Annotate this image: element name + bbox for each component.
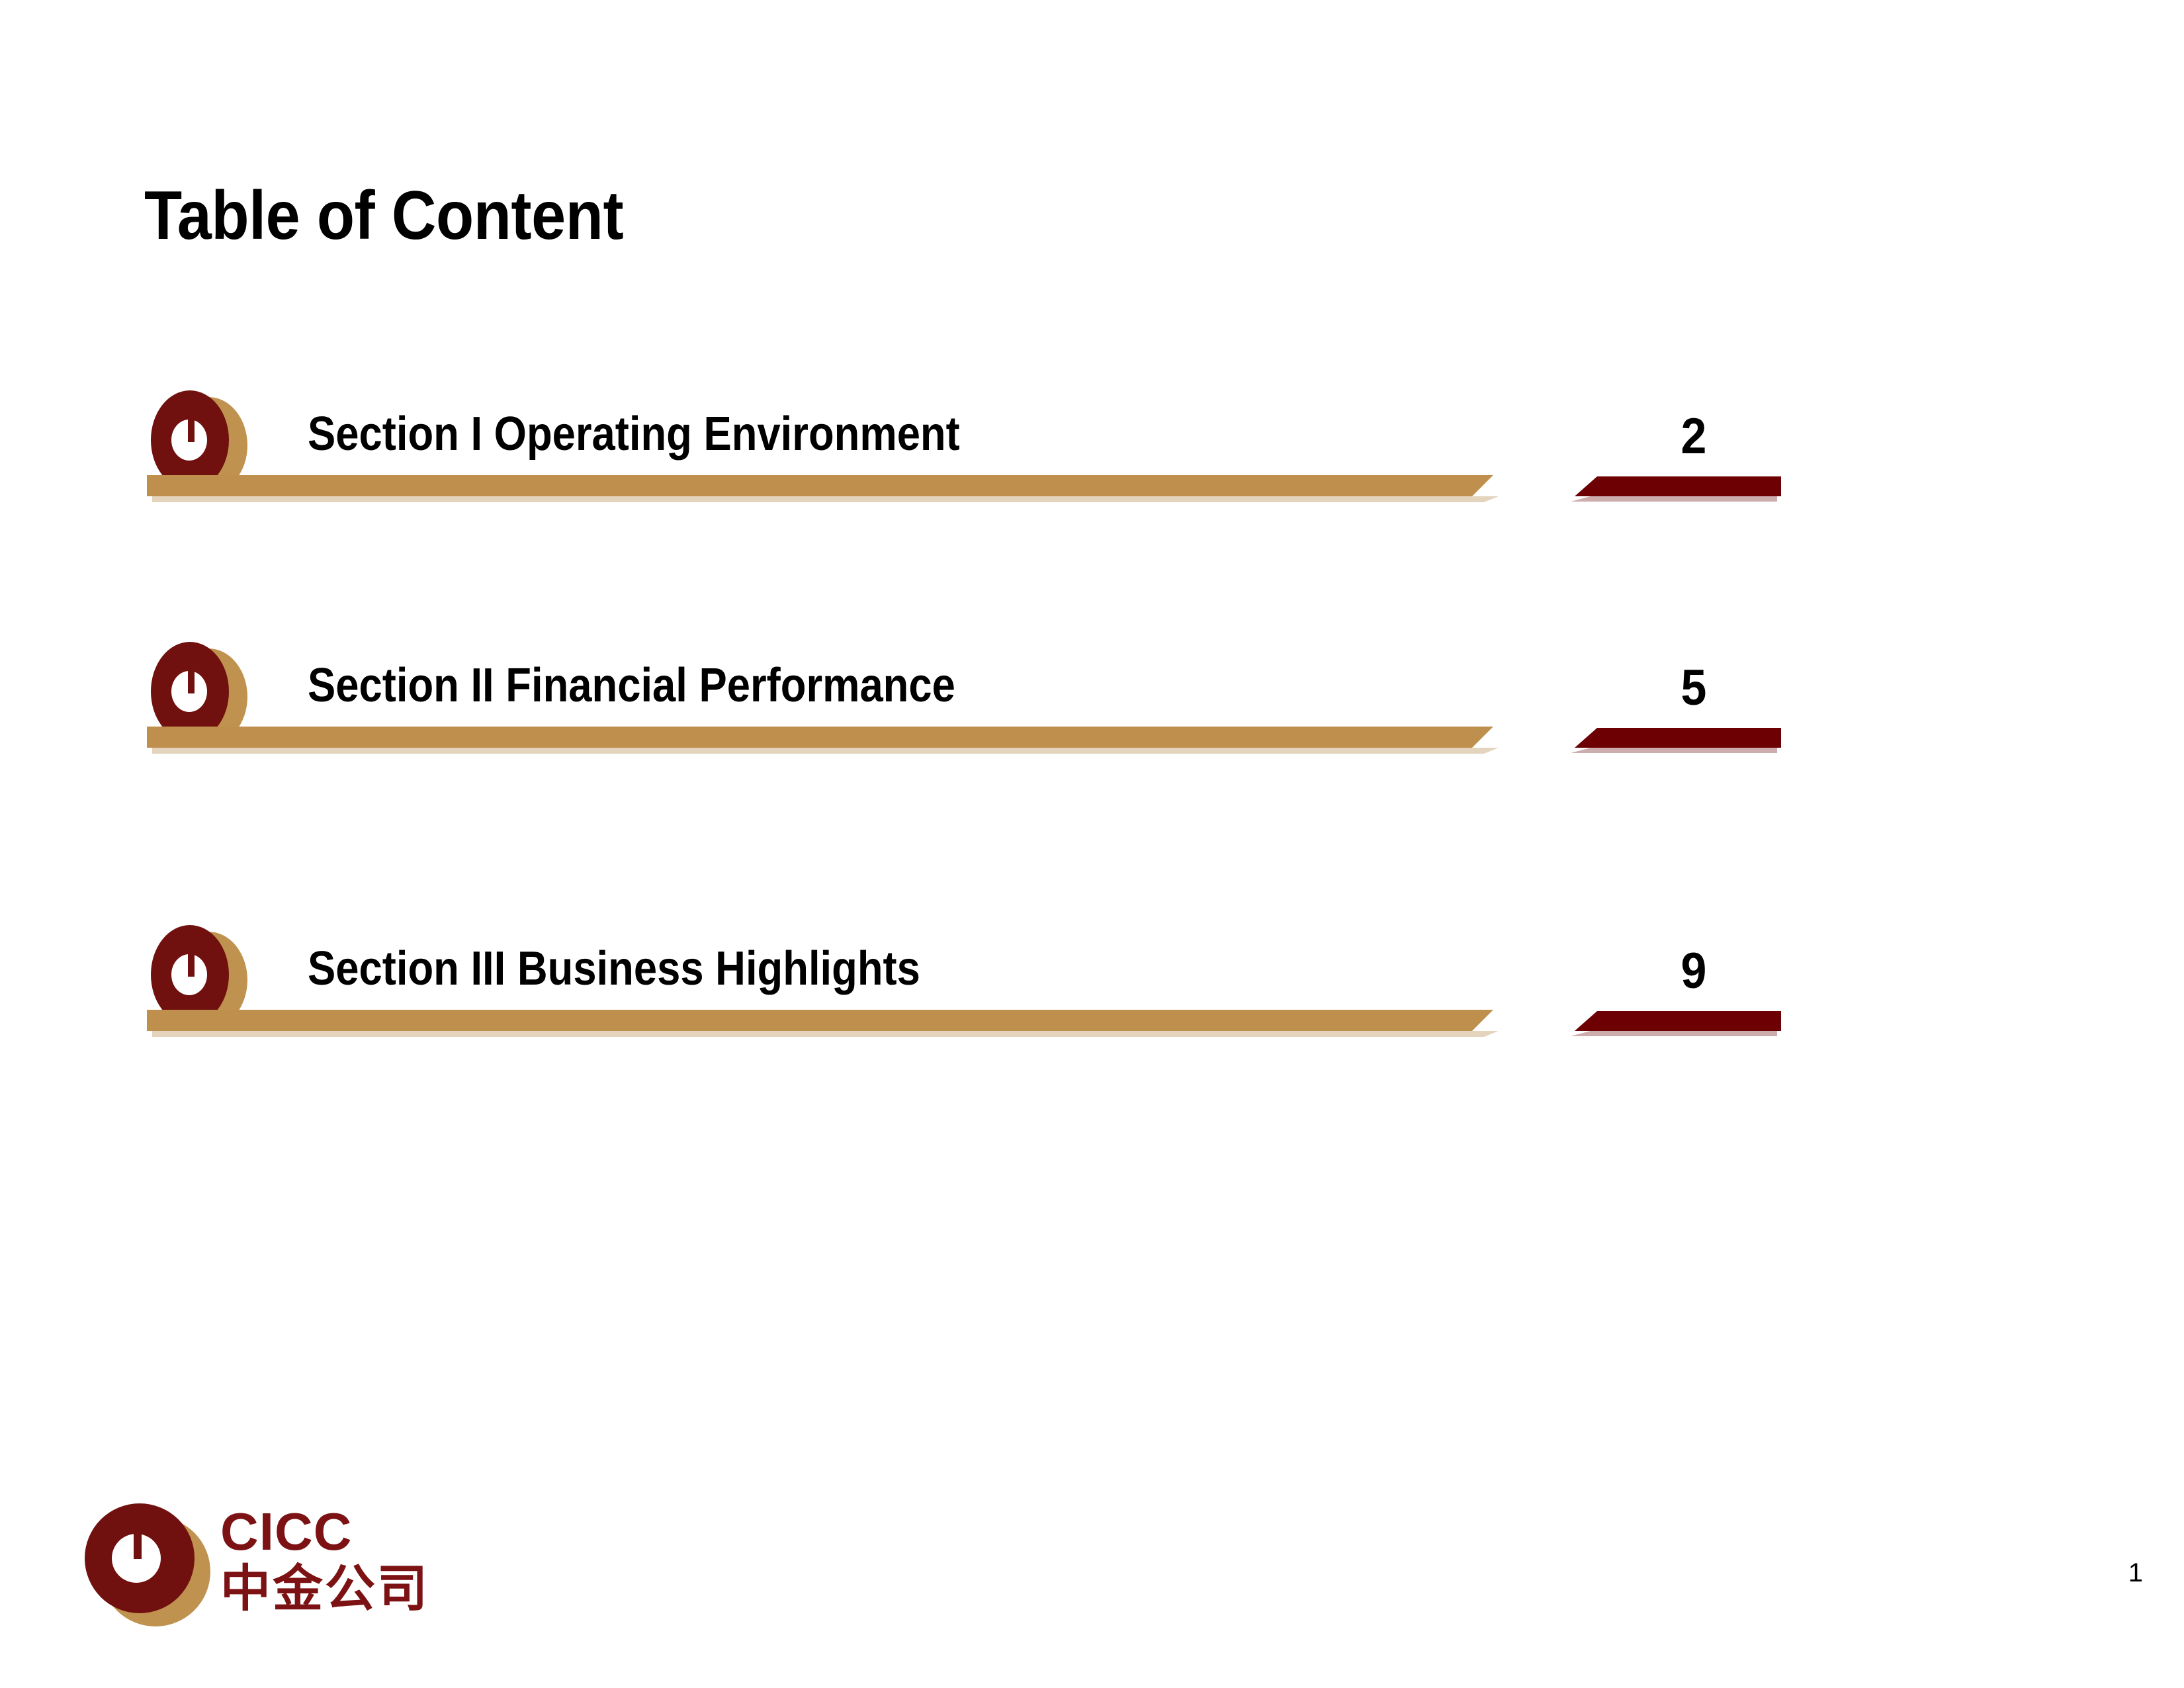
gold-leader-bar bbox=[147, 1010, 1493, 1031]
red-page-bar bbox=[1575, 728, 1781, 748]
gold-bar-shadow bbox=[152, 1031, 1499, 1037]
gold-bar-shadow bbox=[152, 748, 1499, 754]
cicc-company-logo: CICC 中金公司 bbox=[85, 1499, 482, 1638]
gold-bar-shadow bbox=[152, 496, 1499, 502]
toc-entry-page-number[interactable]: 2 bbox=[1627, 408, 1761, 465]
cicc-wordmark-chinese: 中金公司 bbox=[220, 1563, 472, 1615]
toc-entry-label[interactable]: Section III Business Highlights bbox=[308, 945, 920, 993]
slide-number: 1 bbox=[2128, 1558, 2143, 1588]
ring-notch-shape bbox=[188, 948, 195, 977]
toc-entry-row[interactable]: Section III Business Highlights 9 bbox=[0, 925, 2184, 1057]
ring-notch-shape bbox=[188, 413, 195, 442]
toc-entry-label[interactable]: Section II Financial Performance bbox=[308, 662, 955, 709]
cicc-wordmark-latin: CICC bbox=[220, 1506, 472, 1558]
cicc-wordmark: CICC 中金公司 bbox=[220, 1506, 472, 1615]
gold-leader-bar bbox=[147, 475, 1493, 496]
slide-canvas: Table of Content Section I Operating Env… bbox=[0, 0, 2184, 1688]
toc-entry-page-number[interactable]: 9 bbox=[1627, 942, 1761, 1000]
red-bar-shadow bbox=[1571, 496, 1777, 502]
cicc-ring-icon bbox=[85, 1503, 210, 1629]
toc-entry-page-number[interactable]: 5 bbox=[1627, 659, 1761, 717]
red-bar-shadow bbox=[1571, 748, 1777, 753]
red-bar-shadow bbox=[1571, 1031, 1777, 1036]
page-title: Table of Content bbox=[144, 180, 623, 252]
toc-entry-row[interactable]: Section I Operating Environment 2 bbox=[0, 390, 2184, 523]
toc-entry-row[interactable]: Section II Financial Performance 5 bbox=[0, 642, 2184, 774]
red-page-bar bbox=[1575, 476, 1781, 496]
ring-notch-shape bbox=[134, 1530, 142, 1559]
toc-entry-label[interactable]: Section I Operating Environment bbox=[308, 410, 960, 458]
ring-notch-shape bbox=[188, 664, 195, 693]
red-page-bar bbox=[1575, 1011, 1781, 1031]
gold-leader-bar bbox=[147, 727, 1493, 748]
